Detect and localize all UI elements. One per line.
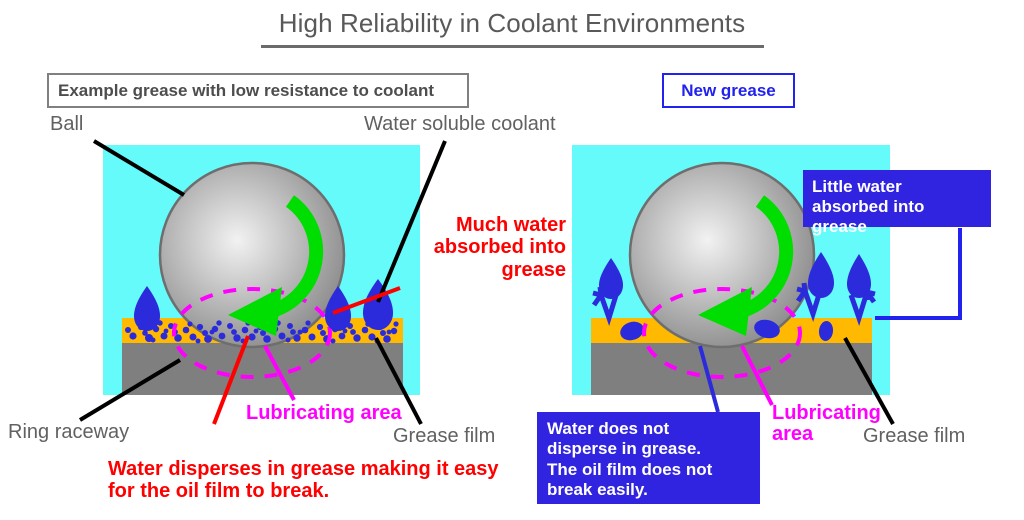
right-callout-box: Little waterabsorbed into grease — [803, 170, 991, 227]
label-lubricating-area-left: Lubricating area — [246, 403, 402, 424]
label-water-soluble-coolant: Water soluble coolant — [364, 113, 556, 136]
label-ball: Ball — [50, 113, 83, 136]
diagram-root: High Reliability in Coolant Environments… — [0, 0, 1024, 520]
label-ring-raceway: Ring raceway — [8, 421, 129, 444]
right-panel-header: New grease — [662, 73, 795, 108]
label-grease-film-right: Grease film — [863, 425, 965, 448]
page-title: High Reliability in Coolant Environments — [0, 8, 1024, 39]
title-underline — [261, 45, 764, 48]
left-panel-header: Example grease with low resistance to co… — [47, 73, 469, 108]
label-much-water-absorbed: Much waterabsorbed intogrease — [425, 214, 566, 281]
right-caption-box: Water does notdisperse in grease.The oil… — [537, 412, 760, 504]
right-raceway — [591, 343, 872, 395]
label-grease-film-left: Grease film — [393, 425, 495, 448]
left-caption: Water disperses in grease making it easy… — [108, 458, 499, 503]
left-panel-group — [80, 141, 445, 424]
